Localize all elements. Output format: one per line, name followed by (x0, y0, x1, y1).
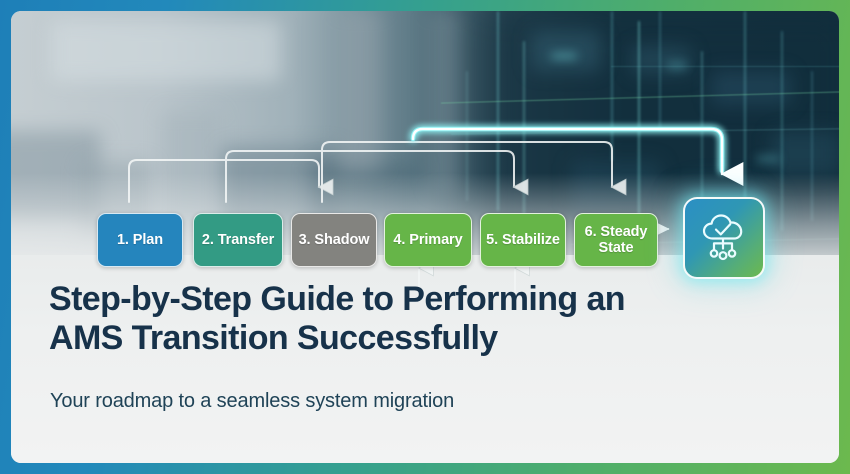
phase-diagram: 1. Plan 2. Transfer 3. Shadow 4. Primary… (11, 11, 839, 311)
cloud-check-node[interactable] (683, 197, 765, 279)
step-node-4-label: 4. Primary (393, 232, 462, 248)
step-node-1[interactable]: 1. Plan (97, 213, 183, 267)
step-node-1-label: 1. Plan (117, 232, 163, 248)
cloud-check-network-icon (695, 210, 753, 266)
page-subtitle: Your roadmap to a seamless system migrat… (50, 390, 810, 413)
step-node-3[interactable]: 3. Shadow (291, 213, 377, 267)
banner-root: 1. Plan 2. Transfer 3. Shadow 4. Primary… (0, 0, 850, 474)
step-node-5-label: 5. Stabilize (486, 232, 560, 248)
step-node-3-label: 3. Shadow (299, 232, 370, 248)
step-node-2-label: 2. Transfer (202, 232, 274, 248)
headline-line-2: AMS Transition Successfully (49, 319, 809, 358)
page-title: Step-by-Step Guide to Performing an AMS … (49, 280, 809, 359)
step-node-5[interactable]: 5. Stabilize (480, 213, 566, 267)
step-node-6-label: 6. Steady State (580, 224, 652, 256)
step-node-6[interactable]: 6. Steady State (574, 213, 658, 267)
step-node-2[interactable]: 2. Transfer (193, 213, 283, 267)
headline-line-1: Step-by-Step Guide to Performing an (49, 280, 625, 318)
banner-card: 1. Plan 2. Transfer 3. Shadow 4. Primary… (11, 11, 839, 463)
step-node-4[interactable]: 4. Primary (384, 213, 472, 267)
